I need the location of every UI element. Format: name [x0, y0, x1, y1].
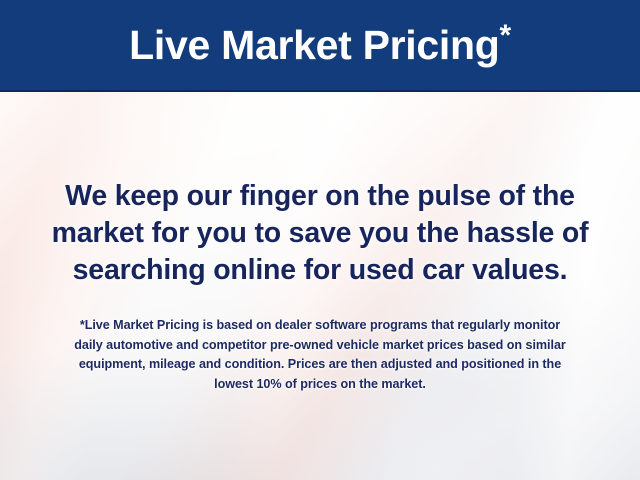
- message-line-1: We keep our finger on the pulse of the: [0, 178, 640, 215]
- disclaimer-line-1: *Live Market Pricing is based on dealer …: [0, 316, 640, 336]
- disclaimer-line-2: daily automotive and competitor pre-owne…: [0, 336, 640, 356]
- message-line-2: market for you to save you the hassle of: [0, 215, 640, 252]
- footnote-asterisk: *: [499, 19, 510, 52]
- live-market-pricing-banner: Live Market Pricing* We keep our finger …: [0, 0, 640, 480]
- marketing-message: We keep our finger on the pulse of the m…: [0, 178, 640, 289]
- disclaimer-text: *Live Market Pricing is based on dealer …: [0, 316, 640, 394]
- disclaimer-line-3: equipment, mileage and condition. Prices…: [0, 355, 640, 375]
- message-line-3: searching online for used car values.: [0, 252, 640, 289]
- header-bar: Live Market Pricing*: [0, 0, 640, 92]
- page-title: Live Market Pricing*: [129, 25, 511, 66]
- page-title-text: Live Market Pricing: [129, 22, 499, 68]
- disclaimer-line-4: lowest 10% of prices on the market.: [0, 375, 640, 395]
